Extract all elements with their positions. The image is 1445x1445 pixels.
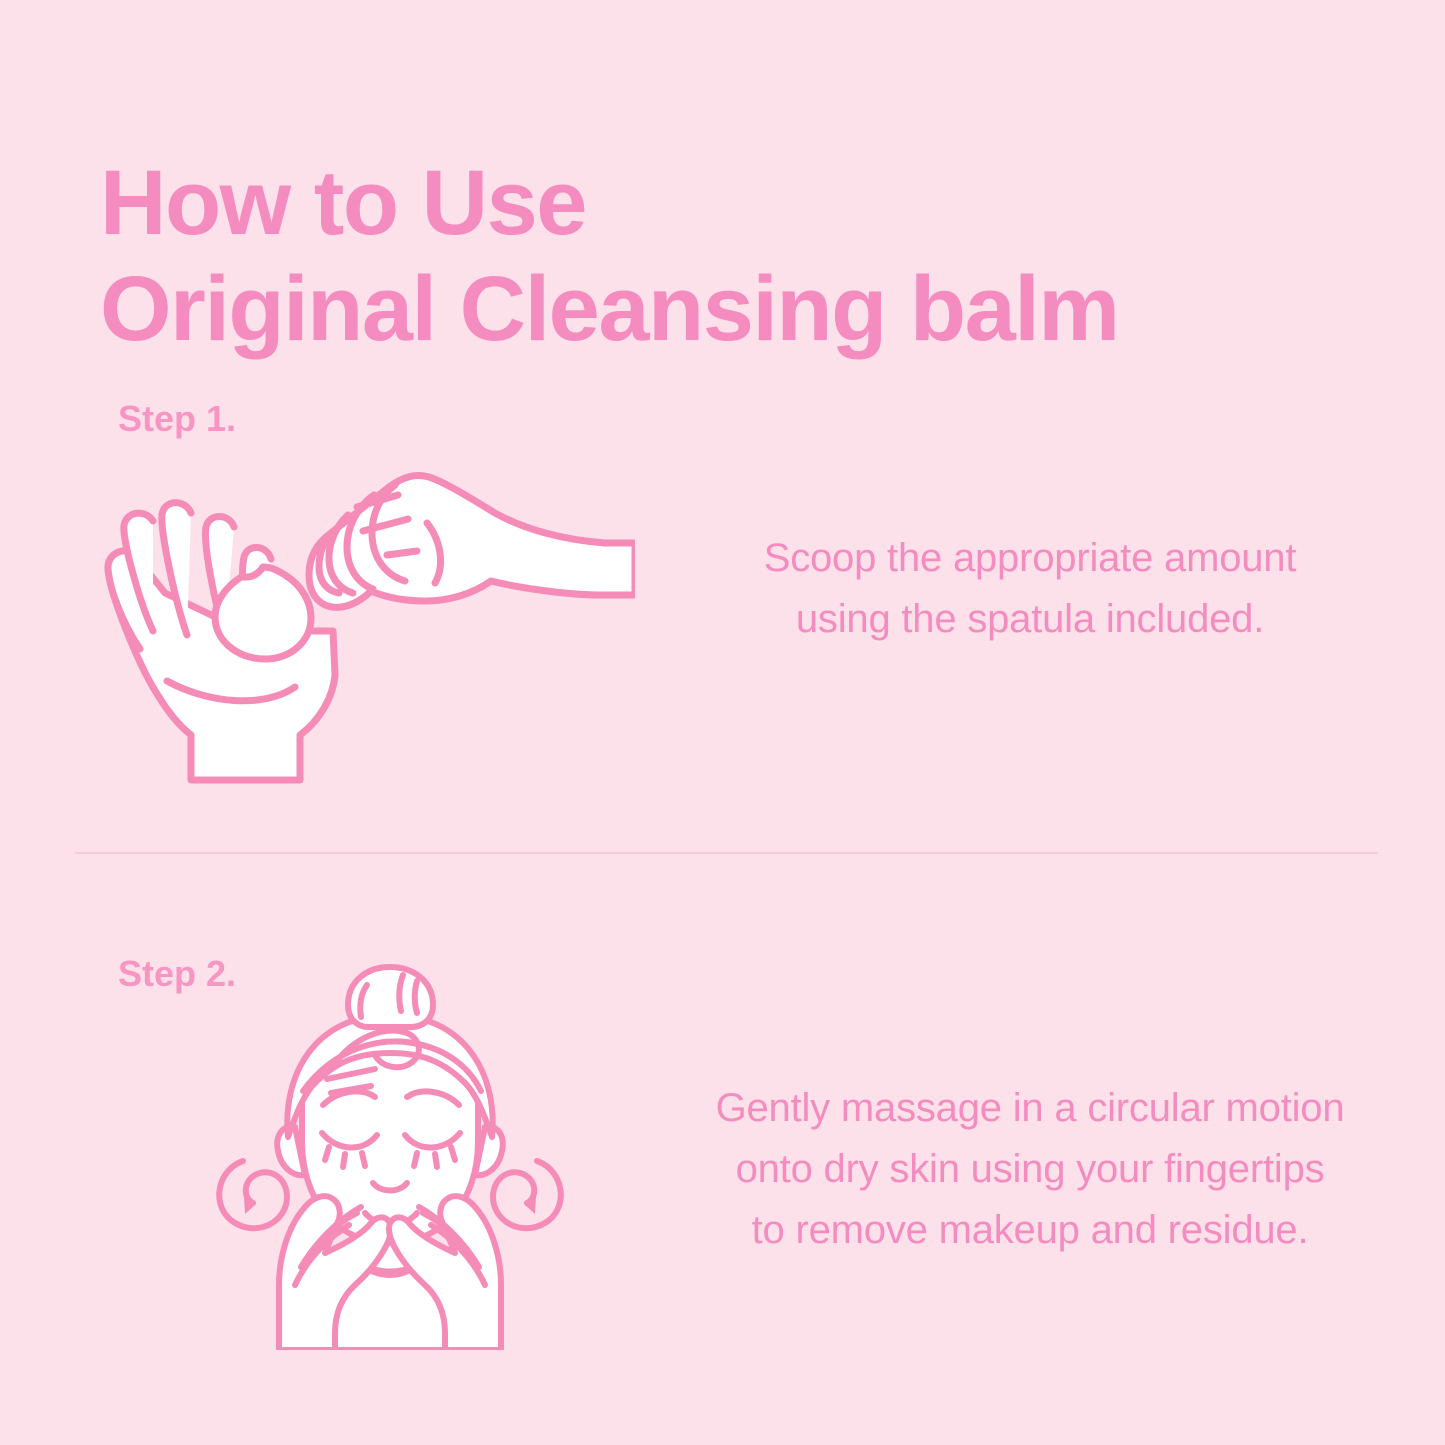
step-2-description-line-2: onto dry skin using your fingertips: [640, 1139, 1420, 1200]
hand-scooping-balm-illustration: [95, 435, 635, 785]
step-1-description-line-2: using the spatula included.: [660, 589, 1400, 650]
how-to-use-card: How to Use Original Cleansing balm Step …: [0, 0, 1445, 1445]
step-1-description-line-1: Scoop the appropriate amount: [660, 528, 1400, 589]
hands-with-balm-icon: [95, 435, 635, 785]
step-1-description: Scoop the appropriate amount using the s…: [660, 528, 1400, 650]
woman-face-massage-icon: [185, 955, 595, 1350]
section-divider: [75, 852, 1378, 854]
woman-massaging-face-illustration: [185, 955, 595, 1350]
page-title-line-1: How to Use: [100, 150, 1250, 257]
step-2-description: Gently massage in a circular motion onto…: [640, 1078, 1420, 1260]
step-2-description-line-3: to remove makeup and residue.: [640, 1200, 1420, 1261]
page-title: How to Use Original Cleansing balm: [100, 150, 1250, 363]
step-1-label: Step 1.: [118, 398, 236, 440]
page-title-line-2: Original Cleansing balm: [100, 256, 1250, 363]
step-2-description-line-1: Gently massage in a circular motion: [640, 1078, 1420, 1139]
